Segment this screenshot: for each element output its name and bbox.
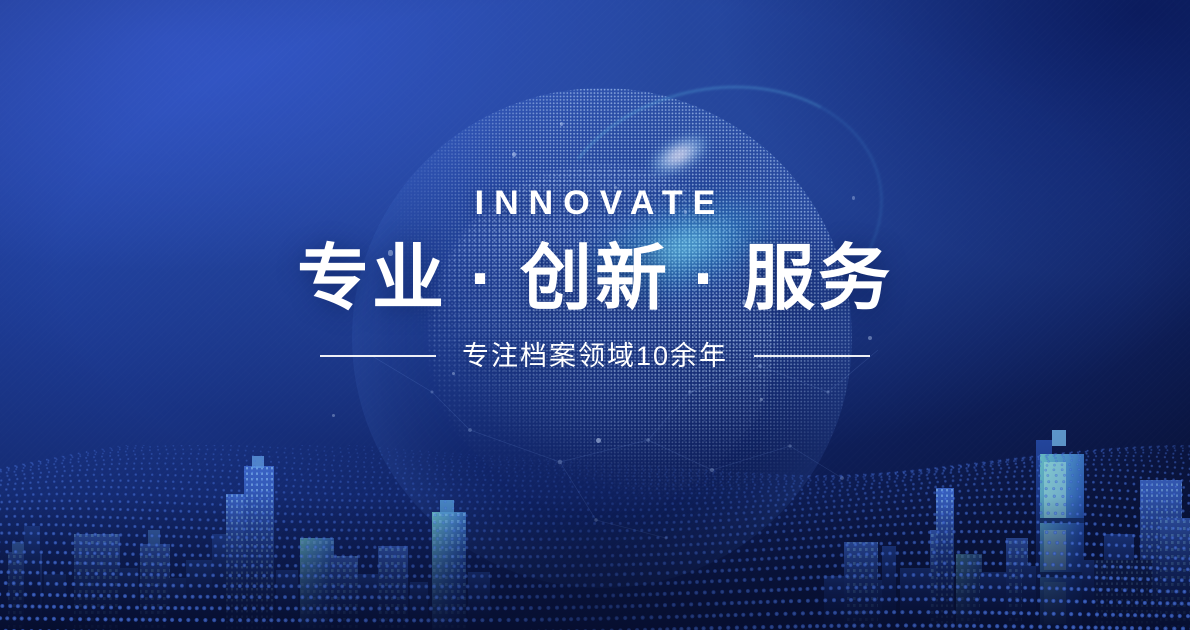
- hero-text-block: INNOVATE 专业 · 创新 · 服务 专注档案领域10余年: [0, 186, 1190, 370]
- left-rule-divider: [320, 355, 436, 357]
- subtitle-row: 专注档案领域10余年: [0, 343, 1190, 370]
- particle-wave: [0, 445, 1190, 630]
- subtitle-text: 专注档案领域10余年: [462, 343, 728, 370]
- page-title: 专业 · 创新 · 服务: [0, 242, 1190, 317]
- eyebrow-text: INNOVATE: [0, 186, 1190, 220]
- right-rule-divider: [754, 355, 870, 357]
- hero-banner: INNOVATE 专业 · 创新 · 服务 专注档案领域10余年: [0, 0, 1190, 630]
